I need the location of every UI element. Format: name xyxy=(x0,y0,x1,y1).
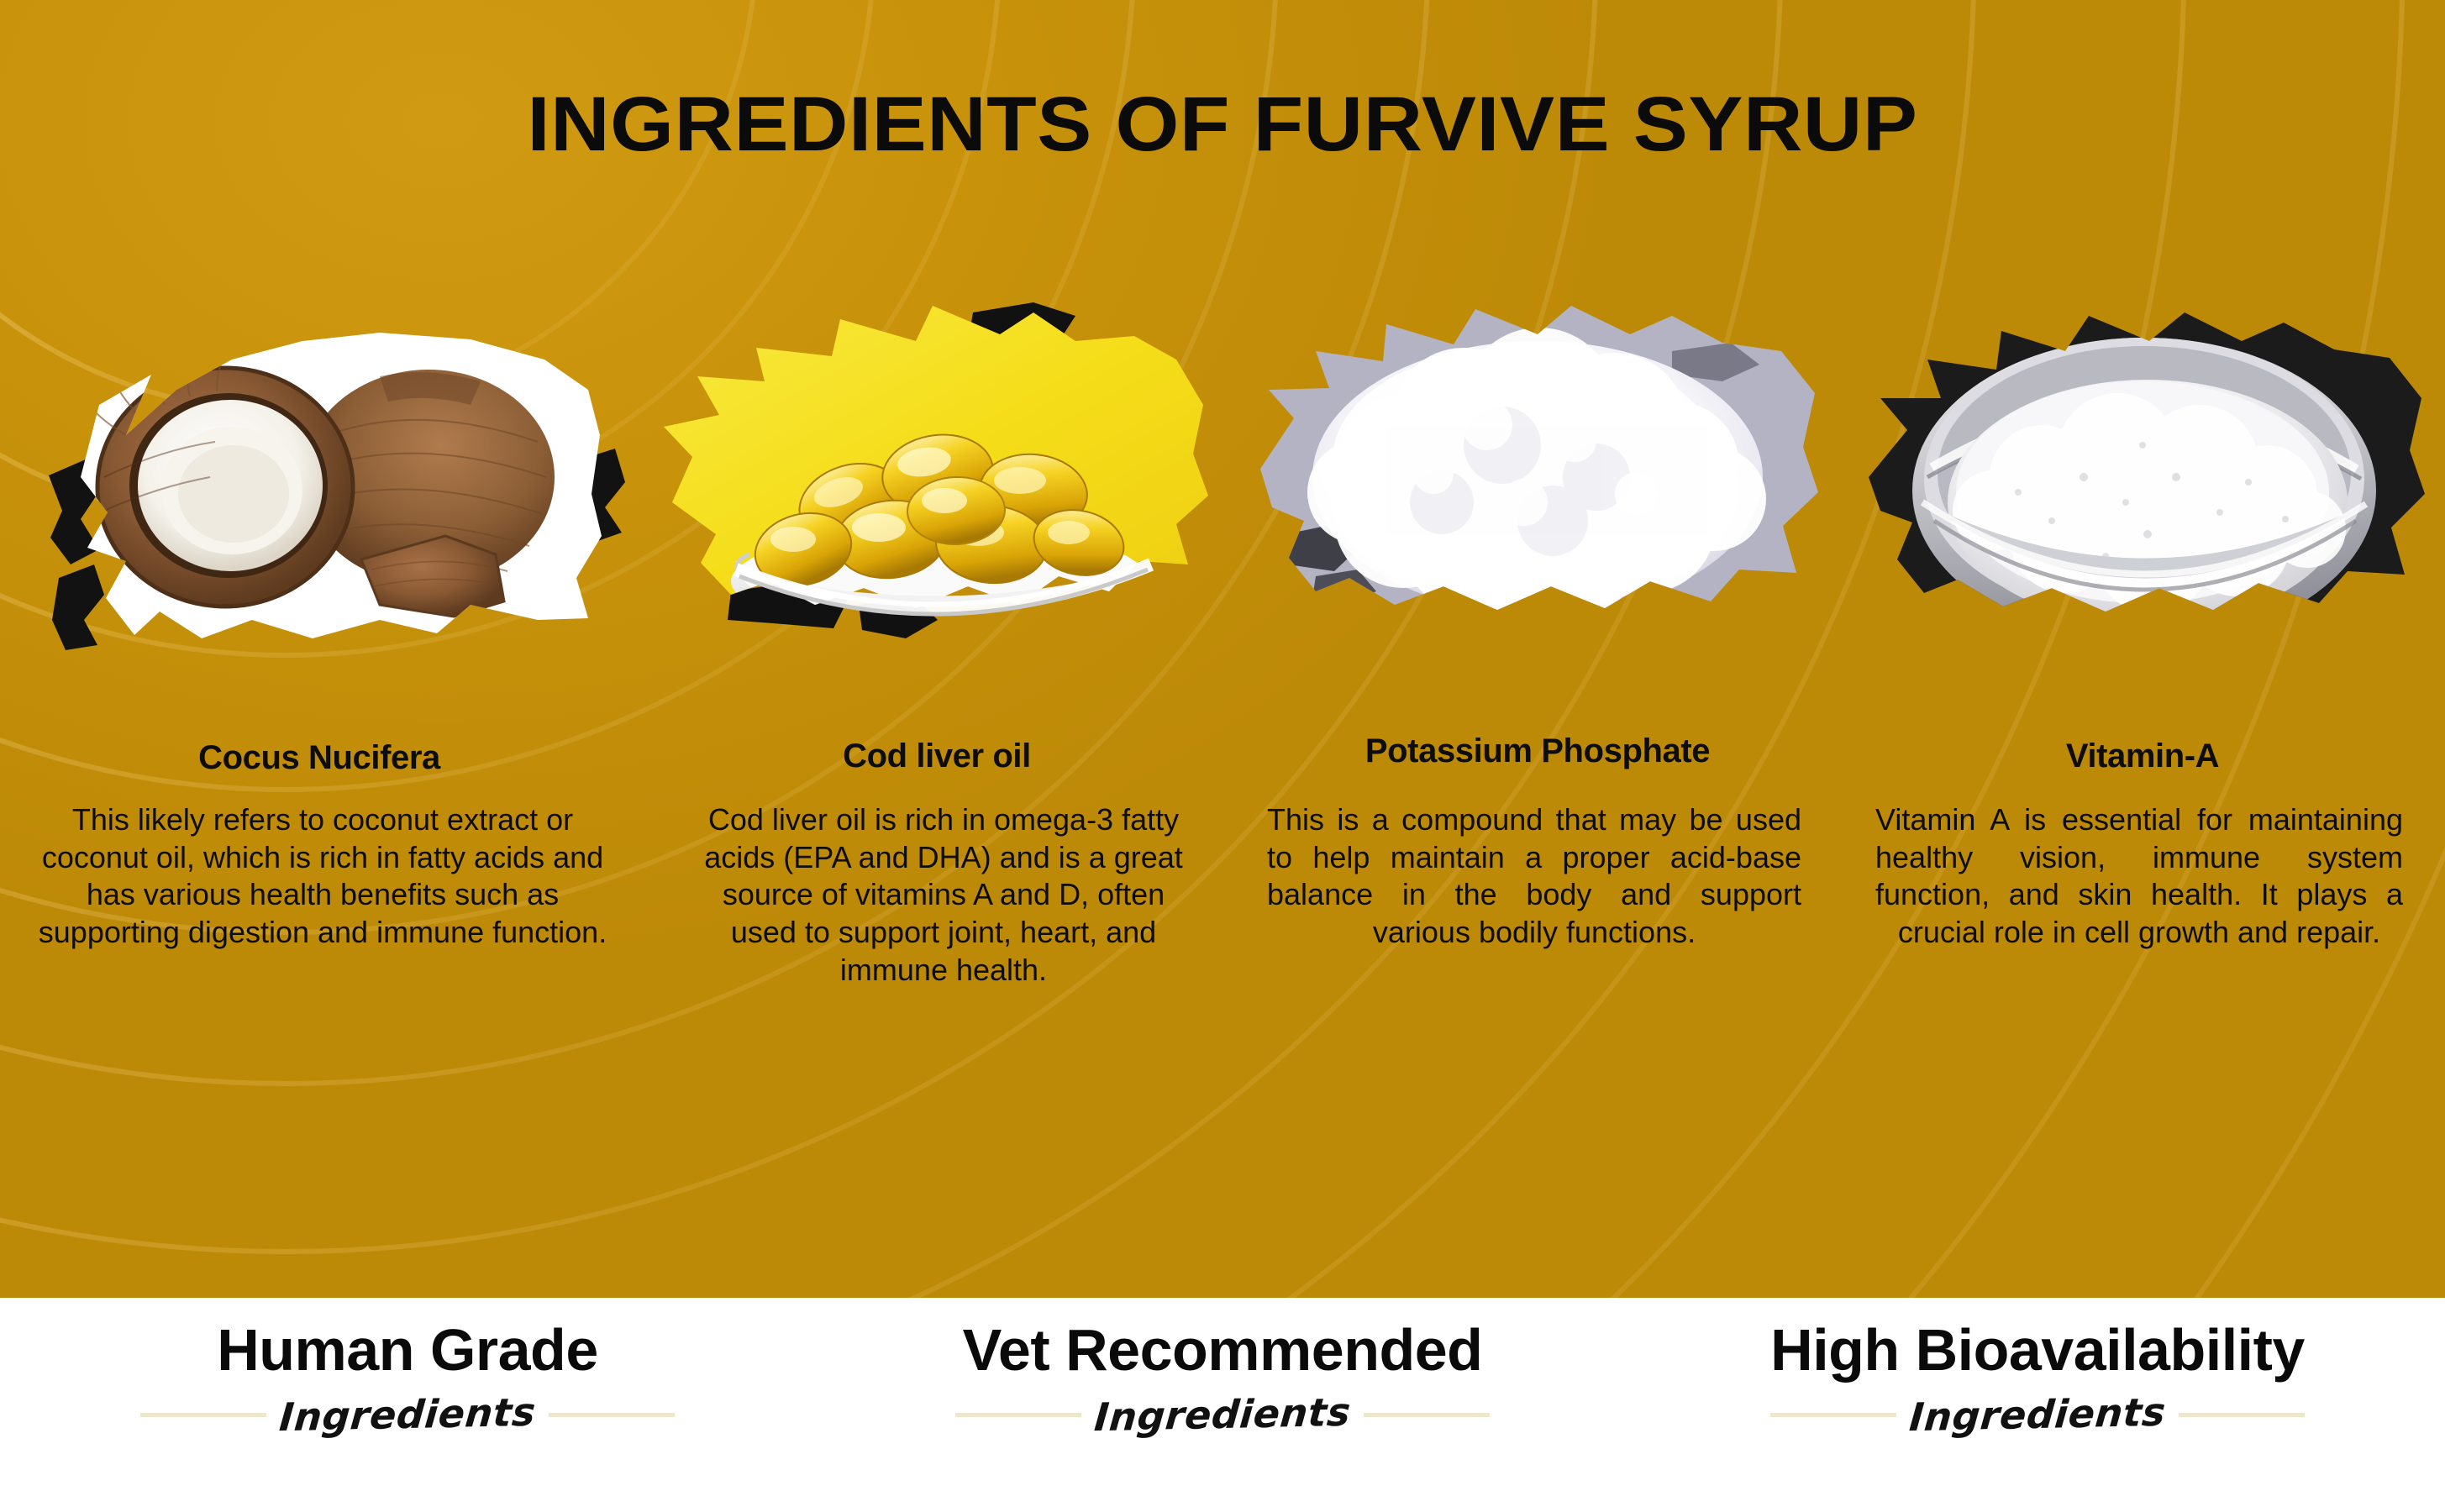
coconut-photo xyxy=(0,225,639,729)
footer-subtitle-row: Ingredients xyxy=(815,1392,1630,1437)
footer-item-vet-recommended: Vet Recommended Ingredients xyxy=(815,1298,1630,1512)
footer-subtitle: Ingredients xyxy=(277,1389,537,1440)
footer-subtitle-row: Ingredients xyxy=(0,1392,815,1437)
white-powder-heap-photo xyxy=(1235,225,1840,729)
ingredient-card-cod-liver-oil: Cod liver oil Cod liver oil is rich in o… xyxy=(639,225,1235,1216)
ingredient-name: Cocus Nucifera xyxy=(0,739,639,777)
footer-title: High Bioavailability xyxy=(1770,1316,2305,1383)
main-content: INGREDIENTS OF FURVIVE SYRUP xyxy=(0,0,2445,1298)
ingredient-name: Cod liver oil xyxy=(639,738,1235,775)
footer-bar: Human Grade Ingredients Vet Recommended … xyxy=(0,1298,2445,1512)
footer-rule-left xyxy=(1770,1413,1896,1417)
footer-item-high-bioavailability: High Bioavailability Ingredients xyxy=(1630,1298,2445,1512)
ingredient-description: Vitamin A is essential for maintaining h… xyxy=(1875,801,2403,952)
footer-rule-right xyxy=(2179,1413,2305,1417)
ingredient-card-potassium-phosphate: Potassium Phosphate This is a compound t… xyxy=(1235,225,1840,1216)
ingredient-name: Potassium Phosphate xyxy=(1235,732,1840,770)
footer-rule-left xyxy=(955,1413,1081,1417)
page-title: INGREDIENTS OF FURVIVE SYRUP xyxy=(0,81,2445,169)
ingredient-description: This is a compound that may be used to h… xyxy=(1267,801,1801,952)
footer-title: Human Grade xyxy=(217,1316,598,1383)
poster-canvas: INGREDIENTS OF FURVIVE SYRUP xyxy=(0,0,2445,1512)
footer-rule-left xyxy=(140,1413,266,1417)
ingredient-name: Vitamin-A xyxy=(1840,738,2445,775)
ingredient-description: Cod liver oil is rich in omega-3 fatty a… xyxy=(689,801,1198,989)
ingredient-description: This likely refers to coconut extract or… xyxy=(30,801,615,952)
footer-subtitle: Ingredients xyxy=(1907,1389,2167,1440)
footer-rule-right xyxy=(549,1413,675,1417)
cod-liver-oil-capsules-photo xyxy=(639,225,1235,729)
footer-subtitle-row: Ingredients xyxy=(1630,1392,2445,1437)
vitamin-a-powder-bowl-photo xyxy=(1840,225,2445,729)
footer-title: Vet Recommended xyxy=(963,1316,1483,1383)
ingredient-columns: Cocus Nucifera This likely refers to coc… xyxy=(0,225,2445,1216)
footer-item-human-grade: Human Grade Ingredients xyxy=(0,1298,815,1512)
ingredient-card-vitamin-a: Vitamin-A Vitamin A is essential for mai… xyxy=(1840,225,2445,1216)
footer-rule-right xyxy=(1364,1413,1490,1417)
footer-subtitle: Ingredients xyxy=(1092,1389,1352,1440)
ingredient-card-cocus-nucifera: Cocus Nucifera This likely refers to coc… xyxy=(0,225,639,1216)
